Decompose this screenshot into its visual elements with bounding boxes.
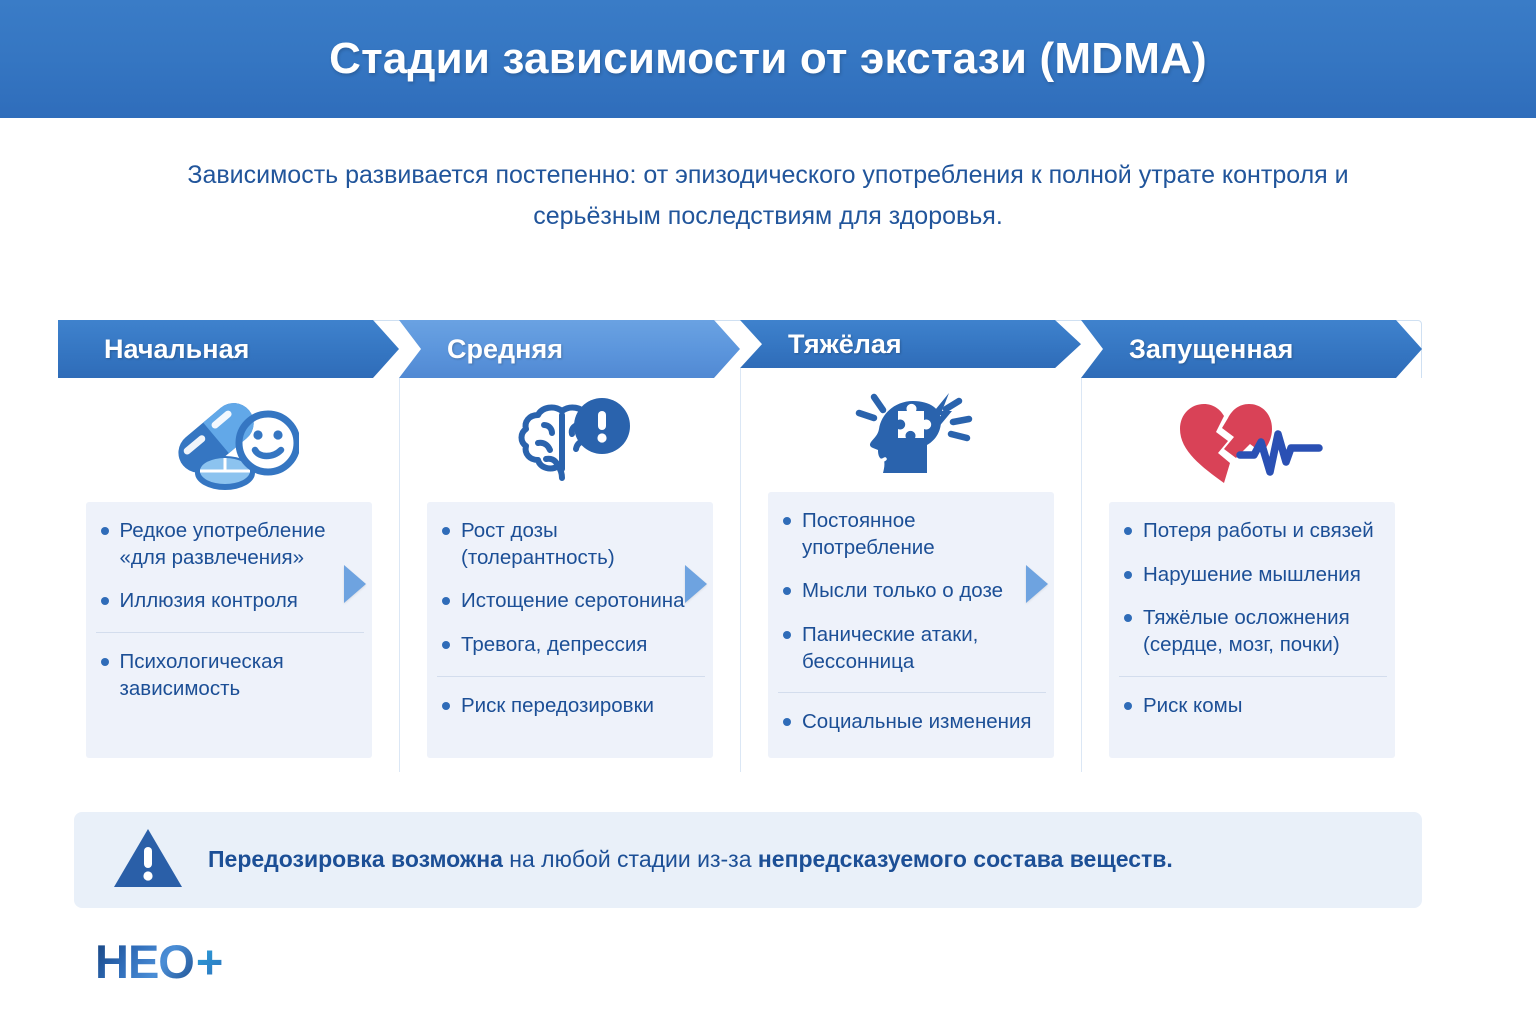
list-item: Нарушение мышления — [1119, 562, 1387, 589]
list-item: Риск комы — [1119, 676, 1387, 720]
stage-connector-arrow-3 — [1026, 565, 1048, 603]
stage-card-1[interactable]: Начальная — [58, 320, 399, 772]
stage-connector-arrow-1 — [344, 565, 366, 603]
page-subtitle: Зависимость развивается постепенно: от э… — [168, 155, 1368, 236]
warning-bold-end: непредсказуемого состава веществ. — [758, 846, 1173, 872]
list-item: Потеря работы и связей — [1119, 518, 1387, 545]
stage-bullets-3: Постоянное употребление Мысли только о д… — [768, 492, 1054, 758]
stage-body-4: Потеря работы и связей Нарушение мышлени… — [1081, 378, 1422, 772]
page-title: Стадии зависимости от экстази (MDMA) — [329, 34, 1207, 84]
stages-container: Начальная — [58, 320, 1422, 772]
list-item: Мысли только о дозе — [778, 578, 1046, 605]
warning-bold-start: Передозировка возможна — [208, 846, 503, 872]
stage-bullets-4: Потеря работы и связей Нарушение мышлени… — [1109, 502, 1395, 758]
stage-header-4[interactable]: Запущенная — [1081, 320, 1422, 378]
list-item: Рост дозы (толерантность) — [437, 518, 705, 571]
stage-header-2[interactable]: Средняя — [399, 320, 740, 378]
stage-header-3[interactable]: Тяжёлая — [740, 320, 1081, 368]
warning-banner: Передозировка возможна на любой стадии и… — [74, 812, 1422, 908]
broken-heart-ecg-icon — [1082, 384, 1422, 502]
stage-bullets-1: Редкое употребление «для развлечения» Ил… — [86, 502, 372, 758]
warning-middle: на любой стадии из-за — [503, 846, 758, 872]
stage-label-4: Запущенная — [1129, 334, 1293, 365]
stage-connector-arrow-2 — [685, 565, 707, 603]
list-item: Постоянное употребление — [778, 508, 1046, 561]
list-item: Тревога, депрессия — [437, 632, 705, 659]
stage-label-3: Тяжёлая — [788, 329, 902, 360]
warning-triangle-icon — [112, 827, 184, 894]
list-item: Тяжёлые осложнения (сердце, мозг, почки) — [1119, 605, 1387, 658]
list-item: Редкое употребление «для развлечения» — [96, 518, 364, 571]
stage-card-2[interactable]: Средняя — [399, 320, 740, 772]
head-puzzle-lightning-icon — [741, 374, 1081, 492]
brain-alert-icon — [400, 384, 740, 502]
page-header: Стадии зависимости от экстази (MDMA) — [0, 0, 1536, 118]
stage-label-1: Начальная — [104, 334, 249, 365]
warning-text: Передозировка возможна на любой стадии и… — [208, 845, 1173, 875]
stage-card-4[interactable]: Запущенная Потеря работы и связей Наруше… — [1081, 320, 1422, 772]
pills-smiley-icon — [58, 384, 399, 502]
logo-plus-icon: + — [196, 938, 223, 985]
list-item: Риск передозировки — [437, 676, 705, 720]
list-item: Истощение серотонина — [437, 588, 705, 615]
stage-card-3[interactable]: Тяжёлая — [740, 320, 1081, 772]
list-item: Иллюзия контроля — [96, 588, 364, 615]
stage-bullets-2: Рост дозы (толерантность) Истощение серо… — [427, 502, 713, 758]
stage-label-2: Средняя — [447, 334, 563, 365]
logo-text: НЕО — [95, 938, 194, 985]
brand-logo[interactable]: НЕО + — [95, 938, 223, 985]
list-item: Психологическая зависимость — [96, 632, 364, 702]
list-item: Панические атаки, бессонница — [778, 622, 1046, 675]
stage-header-1[interactable]: Начальная — [58, 320, 399, 378]
list-item: Социальные изменения — [778, 692, 1046, 736]
